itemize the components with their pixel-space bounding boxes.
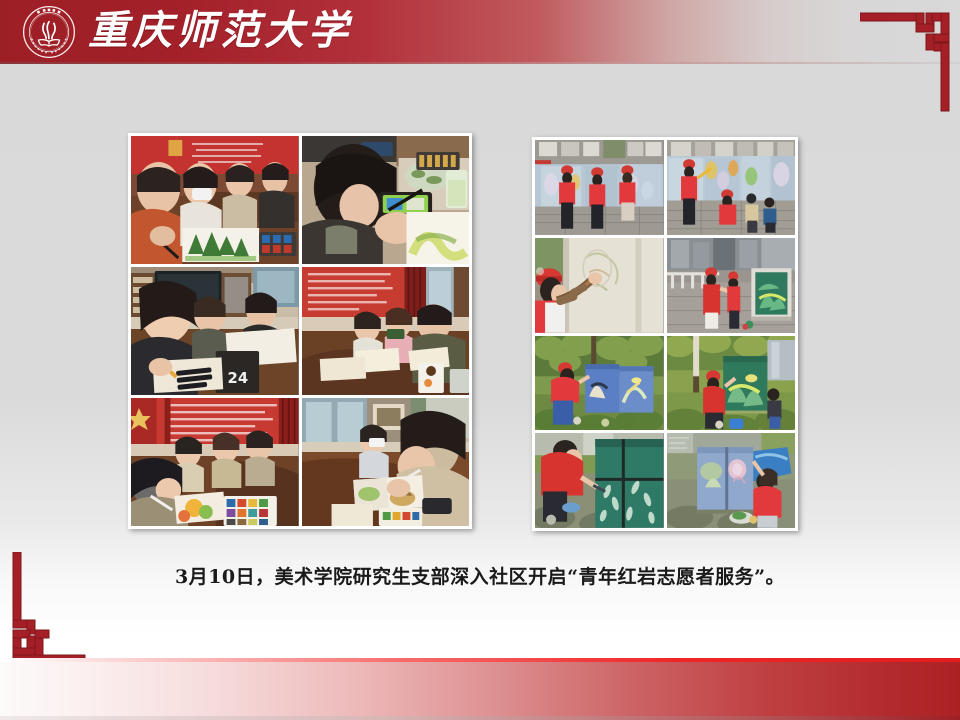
chinese-corner-bracket-icon xyxy=(10,552,102,668)
collage-photo xyxy=(302,267,470,395)
collage-photo xyxy=(667,433,796,528)
slide-caption: 3月10日，美术学院研究生支部深入社区开启“青年红岩志愿者服务”。 xyxy=(0,562,960,589)
header-band-bottom-edge xyxy=(0,62,960,64)
footer-band-bottom-edge xyxy=(0,716,960,720)
collage-photo xyxy=(535,336,664,431)
collage-photo xyxy=(535,433,664,528)
page-title: 重庆师范大学 xyxy=(88,2,352,60)
collage-photo xyxy=(667,140,796,235)
collage-photo xyxy=(535,238,664,333)
svg-text:24: 24 xyxy=(228,369,249,387)
chinese-corner-bracket-icon xyxy=(860,10,952,114)
collage-photo xyxy=(131,398,299,526)
collage-photo xyxy=(302,136,470,264)
collage-photo xyxy=(302,398,470,526)
photo-collage-left: 24 xyxy=(128,133,472,529)
photo-collage-right xyxy=(532,137,798,531)
collage-photo xyxy=(131,136,299,264)
collage-photo xyxy=(667,336,796,431)
collage-photo: 24 xyxy=(131,267,299,395)
slide-canvas: 重庆师范大学 xyxy=(0,0,960,720)
university-seal-icon xyxy=(22,5,76,59)
collage-photo xyxy=(535,140,664,235)
footer-band xyxy=(0,662,960,720)
collage-photo xyxy=(667,238,796,333)
